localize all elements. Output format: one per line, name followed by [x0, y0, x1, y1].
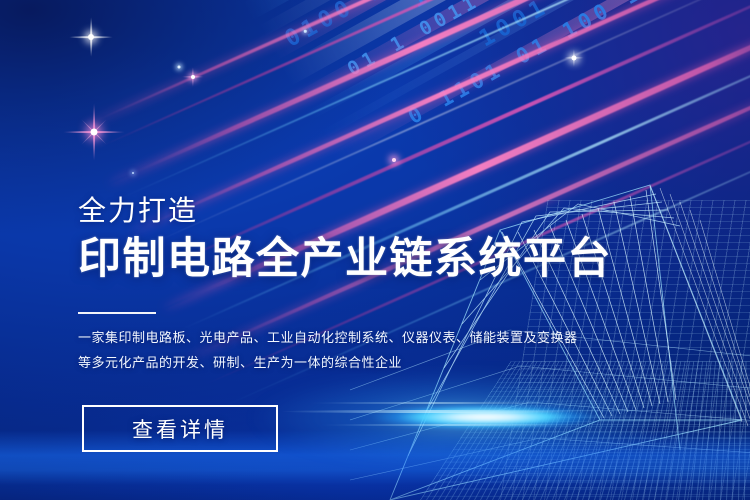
hero-banner: 01 001 01 1001 10 01 0110 1 1 0110 01 1 …: [0, 0, 750, 500]
hero-description-line-1: 一家集印制电路板、光电产品、工业自动化控制系统、仪器仪表、储能装置及变换器: [78, 331, 578, 344]
hero-description-line-2: 等多元化产品的开发、研制、生产为一体的综合性企业: [78, 356, 402, 369]
view-details-button[interactable]: 查看详情: [82, 405, 278, 452]
hero-eyebrow: 全力打造: [78, 197, 198, 225]
hero-content: 全力打造 印制电路全产业链系统平台 一家集印制电路板、光电产品、工业自动化控制系…: [78, 0, 678, 500]
hero-divider: [78, 312, 156, 314]
hero-headline: 印制电路全产业链系统平台: [78, 238, 612, 281]
